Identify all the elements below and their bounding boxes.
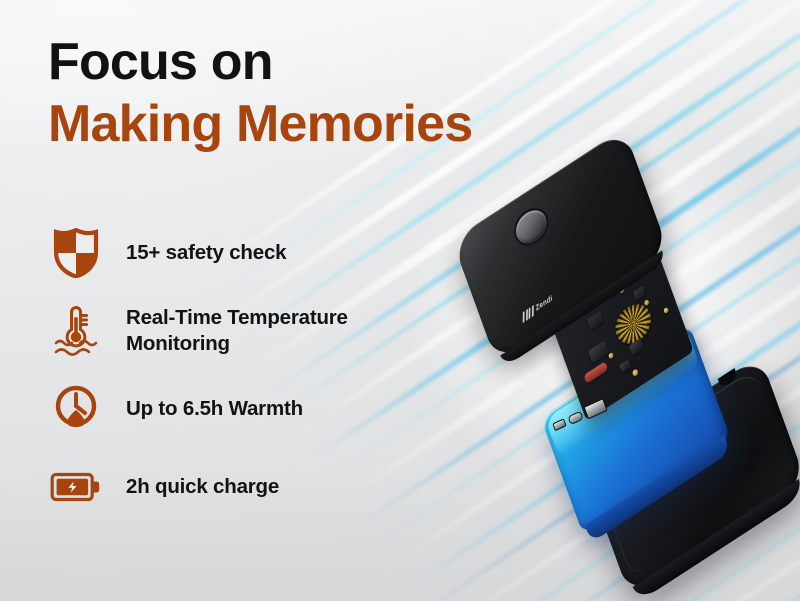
feature-label-charge: 2h quick charge [126,474,279,500]
chip-component [633,285,646,300]
micro-usb-port [552,418,566,431]
usb-c-port [567,410,583,425]
feature-label-temperature: Real-Time Temperature Monitoring [126,305,348,357]
power-button[interactable] [512,204,550,250]
clock-flame-icon [48,381,104,437]
solder-pad [632,368,639,377]
battery-bolt-icon [48,459,104,515]
feature-label-safety: 15+ safety check [126,240,286,266]
solder-pad [644,299,650,307]
feature-item-temperature: Real-Time Temperature Monitoring [48,292,438,370]
usb-a-port [583,397,607,419]
product-exploded-view: Zendi [430,172,800,572]
headline-line-1: Focus on [48,34,568,90]
feature-item-safety: 15+ safety check [48,214,438,292]
feature-label-warmth: Up to 6.5h Warmth [126,396,303,422]
solder-pad [663,307,669,315]
shield-check-icon [48,225,104,281]
chip-component [587,311,604,330]
chip-component [619,359,631,373]
promo-banner: Focus on Making Memories [0,0,800,601]
brand-mark-icon [523,305,534,323]
feature-list: 15+ safety check [48,214,438,526]
solder-pad [608,352,614,360]
headline-block: Focus on Making Memories [48,34,568,152]
feature-item-warmth: Up to 6.5h Warmth [48,370,438,448]
brand-name: Zendi [535,294,554,311]
feature-item-charge: 2h quick charge [48,448,438,526]
headline-line-2: Making Memories [48,96,568,152]
thermometer-water-icon [48,303,104,359]
brand-logo: Zendi [521,293,554,321]
chip-component [588,340,609,363]
